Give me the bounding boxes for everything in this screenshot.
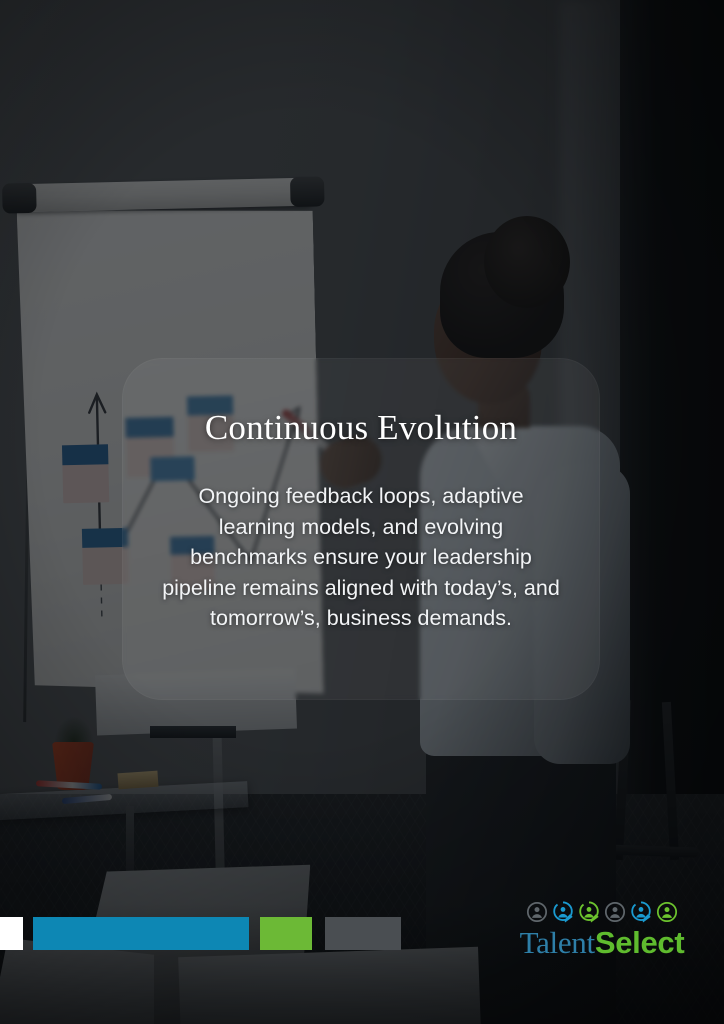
logo-word-talent: Talent bbox=[520, 925, 595, 961]
content-panel: Continuous Evolution Ongoing feedback lo… bbox=[122, 358, 600, 700]
page-title: Continuous Evolution bbox=[205, 408, 517, 447]
person-badge-gray-icon bbox=[604, 901, 626, 923]
person-pin-green-icon bbox=[578, 901, 600, 923]
person-badge-gray-icon bbox=[526, 901, 548, 923]
slide-root: Continuous Evolution Ongoing feedback lo… bbox=[0, 0, 724, 1024]
body-paragraph: Ongoing feedback loops, adaptive learnin… bbox=[161, 481, 561, 634]
logo-wordmark: Talent Select bbox=[514, 925, 690, 961]
person-pin-blue-icon bbox=[552, 901, 574, 923]
person-badge-green-icon bbox=[656, 901, 678, 923]
brand-logo[interactable]: Talent Select bbox=[514, 900, 690, 961]
footer-bar-green bbox=[260, 917, 312, 950]
footer-bar-blue bbox=[33, 917, 249, 950]
footer-bar-gray bbox=[325, 917, 401, 950]
logo-word-select: Select bbox=[595, 925, 685, 961]
logo-icon-row bbox=[514, 900, 690, 924]
person-pin-blue-icon bbox=[630, 901, 652, 923]
footer-bar-white bbox=[0, 917, 23, 950]
